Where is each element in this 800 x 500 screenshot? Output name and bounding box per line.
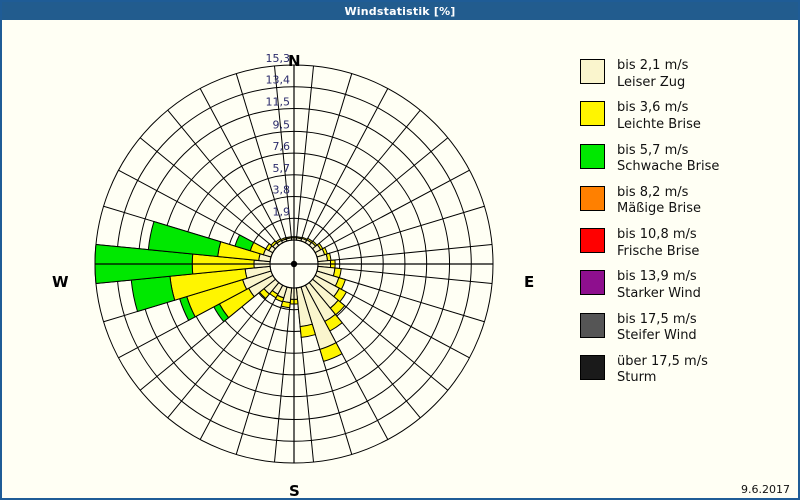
wind-petal-segment [326,253,331,260]
legend-beaufort-name: Starker Wind [617,286,701,303]
wind-petal-segment [300,324,315,337]
legend-label-group: bis 10,8 m/sFrische Brise [617,227,699,260]
compass-label-south: S [289,482,300,500]
legend-label-group: bis 5,7 m/sSchwache Brise [617,143,719,176]
radial-tick-label: 13,4 [266,74,291,87]
legend-speed-range: bis 5,7 m/s [617,143,719,160]
wind-statistics-window: Windstatistik [%] 1,93,85,77,69,511,513,… [0,0,800,500]
legend-beaufort-name: Mäßige Brise [617,201,701,218]
wind-rose-petals [95,222,346,362]
legend-color-swatch [580,101,605,126]
legend-speed-range: bis 2,1 m/s [617,58,688,75]
legend-item: bis 8,2 m/sMäßige Brise [580,185,790,218]
grid-spoke [200,285,283,439]
radial-tick-label: 11,5 [266,96,291,109]
legend-item: bis 10,8 m/sFrische Brise [580,227,790,260]
grid-spoke [301,74,352,241]
legend-label-group: bis 13,9 m/sStarker Wind [617,269,701,302]
chart-canvas: 1,93,85,77,69,511,513,415,3 N S W E bis … [2,20,798,498]
legend-label-group: bis 2,1 m/sLeiser Zug [617,58,688,91]
legend-label-group: bis 3,6 m/sLeichte Brise [617,100,701,133]
legend: bis 2,1 m/sLeiser Zugbis 3,6 m/sLeichte … [580,58,790,396]
radial-tick-label: 7,6 [273,140,291,153]
radial-tick-label: 15,3 [266,52,291,65]
grid-spoke [305,89,388,243]
legend-speed-range: bis 3,6 m/s [617,100,701,117]
legend-color-swatch [580,228,605,253]
legend-color-swatch [580,59,605,84]
compass-label-north: N [288,52,301,70]
legend-item: bis 5,7 m/sSchwache Brise [580,143,790,176]
legend-beaufort-name: Sturm [617,370,708,387]
grid-spoke [317,206,484,257]
polar-axes [95,65,493,463]
grid-spoke [315,170,469,253]
legend-color-swatch [580,270,605,295]
radial-tick-label: 1,9 [273,205,291,218]
window-title: Windstatistik [%] [344,5,455,18]
legend-item: über 17,5 m/sSturm [580,354,790,387]
legend-color-swatch [580,313,605,338]
legend-color-swatch [580,144,605,169]
legend-beaufort-name: Schwache Brise [617,159,719,176]
grid-spoke [236,287,287,454]
grid-spoke [168,110,279,245]
window-title-bar: Windstatistik [%] [2,2,798,20]
date-stamp: 9.6.2017 [741,483,790,496]
legend-item: bis 17,5 m/sSteifer Wind [580,312,790,345]
legend-item: bis 3,6 m/sLeichte Brise [580,100,790,133]
legend-label-group: bis 8,2 m/sMäßige Brise [617,185,701,218]
legend-color-swatch [580,355,605,380]
legend-label-group: über 17,5 m/sSturm [617,354,708,387]
legend-beaufort-name: Steifer Wind [617,328,697,345]
compass-label-east: E [524,273,534,291]
legend-item: bis 2,1 m/sLeiser Zug [580,58,790,91]
grid-spoke [309,110,420,245]
legend-speed-range: über 17,5 m/s [617,354,708,371]
radial-tick-labels: 1,93,85,77,69,511,513,415,3 [266,52,291,218]
legend-beaufort-name: Leichte Brise [617,117,701,134]
legend-speed-range: bis 13,9 m/s [617,269,701,286]
grid-spoke [313,138,448,249]
legend-label-group: bis 17,5 m/sSteifer Wind [617,312,697,345]
legend-beaufort-name: Leiser Zug [617,75,688,92]
legend-beaufort-name: Frische Brise [617,244,699,261]
radial-tick-label: 3,8 [273,184,291,197]
legend-color-swatch [580,186,605,211]
radial-tick-label: 5,7 [273,162,291,175]
radial-tick-label: 9,5 [273,118,291,131]
legend-speed-range: bis 8,2 m/s [617,185,701,202]
legend-speed-range: bis 17,5 m/s [617,312,697,329]
compass-label-west: W [52,273,69,291]
legend-item: bis 13,9 m/sStarker Wind [580,269,790,302]
legend-speed-range: bis 10,8 m/s [617,227,699,244]
grid-spoke [200,89,283,243]
